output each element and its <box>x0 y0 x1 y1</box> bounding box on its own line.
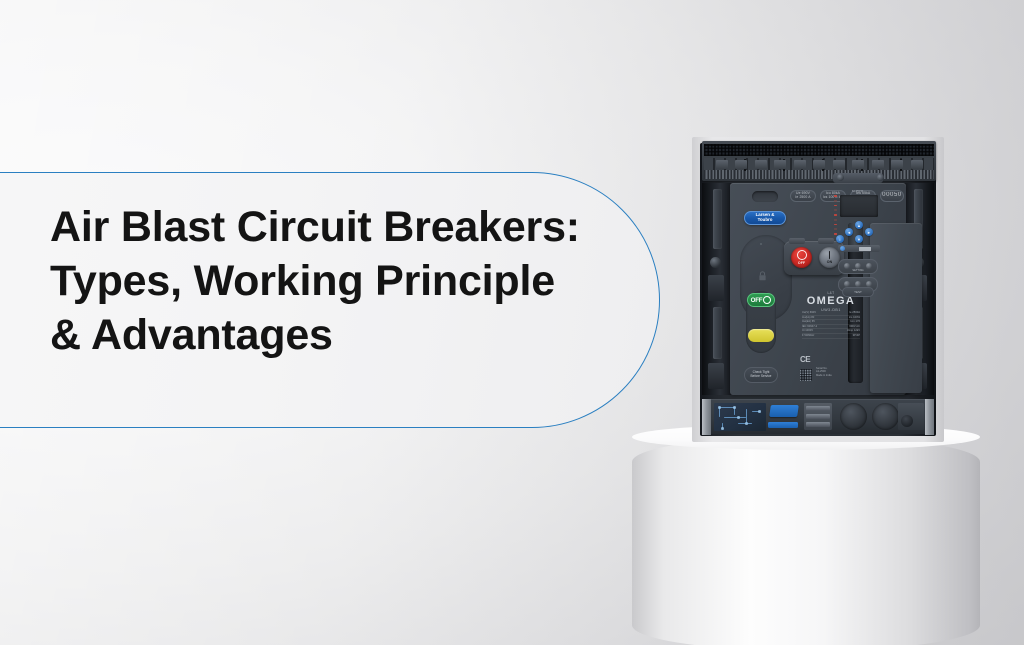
hero-banner: Air Blast Circuit Breakers: Types, Worki… <box>0 0 1024 645</box>
trip-unit-brand: M-PRO <box>852 189 864 193</box>
handle-recess <box>752 191 778 202</box>
trip-screw-right <box>877 174 884 181</box>
trip-unit-status-bar <box>838 245 880 252</box>
breaker-faceplate: Ue 690V Ie 2500 A Icu 80kA Ics 100% Ics … <box>730 183 906 395</box>
round-port-1 <box>840 403 867 430</box>
arc-chute-vent-grille <box>702 141 936 181</box>
left-mechanism-rail <box>702 183 732 395</box>
spring-charge-indicator <box>748 329 774 342</box>
service-note-label: Check Tight Before Service <box>744 367 778 383</box>
specification-table: Ue(V) 690V Ie 2500A Icu(kA) 80 Ics 100% … <box>802 311 860 339</box>
stacked-terminal <box>804 403 832 430</box>
status-led-icon <box>840 246 845 251</box>
status-badge: OFF <box>747 293 775 307</box>
power-on-icon <box>829 251 831 259</box>
ce-mark-icon: CE <box>800 355 810 364</box>
led-indicator-strip <box>834 195 838 235</box>
padlock-icon <box>758 271 767 281</box>
control-pcb <box>714 403 766 431</box>
blue-terminal-lower <box>768 422 798 428</box>
keypad-down-button[interactable]: ▼ <box>855 235 863 243</box>
keypad-up-button[interactable]: ▲ <box>855 221 863 229</box>
blue-terminal-upper <box>769 405 799 417</box>
qr-code-icon <box>800 369 812 381</box>
protection-dial-group-1[interactable]: SETTING <box>838 259 878 274</box>
status-chip <box>859 247 871 251</box>
rating-label-1: Ue 690V Ie 2500 A <box>790 190 816 202</box>
brand-badge: Larsen & Toubro <box>744 211 786 225</box>
round-port-2 <box>872 403 899 430</box>
operation-counter: 00050 <box>880 190 904 202</box>
square-port <box>898 403 924 430</box>
on-push-button[interactable]: ON <box>819 247 840 268</box>
left-foot <box>702 399 711 435</box>
port-hole-icon <box>901 415 913 427</box>
table-row: F 50/60Hz 3P/4P <box>802 334 860 339</box>
test-port[interactable]: TEST <box>842 287 874 297</box>
serial-block: Serial No. A1-2500 Made in India <box>816 367 860 377</box>
keypad-info-button[interactable]: i <box>836 235 844 243</box>
trip-unit-display <box>840 195 878 217</box>
power-off-icon <box>797 250 807 260</box>
vent-teeth <box>704 170 934 179</box>
off-push-button[interactable]: OFF <box>791 247 812 268</box>
vent-perforations <box>704 144 934 156</box>
keypad-left-button[interactable]: ◄ <box>845 228 853 236</box>
open-symbol-icon <box>763 296 771 304</box>
page-title: Air Blast Circuit Breakers: Types, Worki… <box>50 200 670 362</box>
right-foot <box>925 399 934 435</box>
trip-unit-keypad: ▲ ◄ ► ▼ i <box>842 221 876 243</box>
air-circuit-breaker-product: Ue 690V Ie 2500 A Icu 80kA Ics 100% Ics … <box>692 137 944 442</box>
product-pedestal <box>632 436 980 645</box>
keypad-right-button[interactable]: ► <box>865 228 873 236</box>
trip-screw-left <box>837 174 844 181</box>
